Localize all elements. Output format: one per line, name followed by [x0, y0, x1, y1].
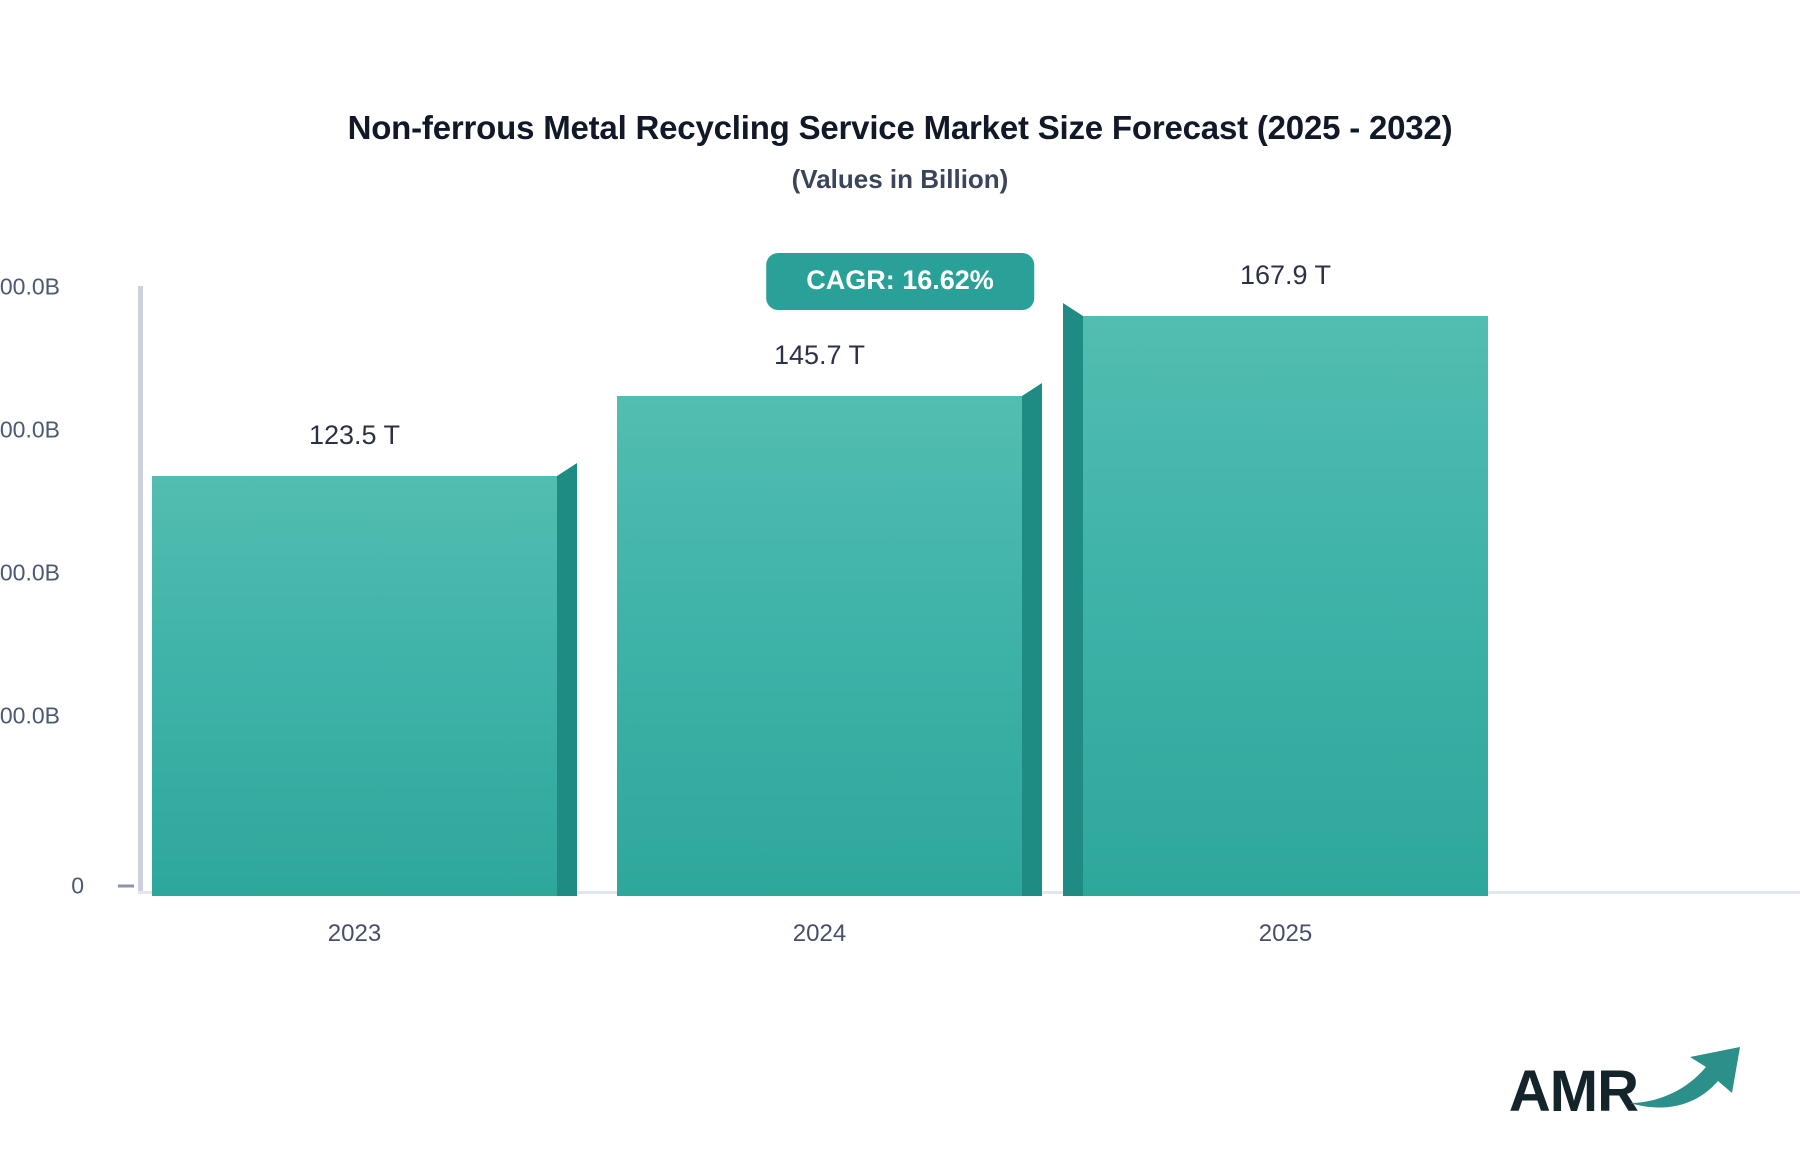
amr-logo-text: AMR: [1509, 1066, 1638, 1118]
bar-2024[interactable]: [617, 396, 1022, 896]
amr-logo: AMR: [1509, 1041, 1748, 1118]
bar-side-shadow-2024: [1022, 396, 1042, 896]
y-tick-dash-0: [118, 885, 134, 888]
x-tick-label-2023: 2023: [152, 920, 557, 948]
y-tick-label-200000: 200000.0B: [0, 274, 60, 301]
bar-side-shadow-2025: [1063, 316, 1083, 896]
bar-2023[interactable]: [152, 476, 557, 896]
x-tick-label-2025: 2025: [1083, 920, 1488, 948]
x-tick-label-2024: 2024: [617, 920, 1022, 948]
y-tick-label-50000: 50000.0B: [0, 703, 60, 730]
bar-value-2025: 167.9 T: [1083, 260, 1488, 291]
y-axis-line: [138, 286, 143, 892]
bar-value-2023: 123.5 T: [152, 420, 557, 451]
bar-group-2024[interactable]: 145.7 T 2024: [617, 396, 1022, 896]
bar-group-2025[interactable]: 167.9 T 2025: [1083, 316, 1488, 896]
bar-group-2023[interactable]: 123.5 T 2023: [152, 476, 557, 896]
y-tick-label-0: 0: [0, 873, 84, 900]
bar-side-shadow-2023: [557, 476, 577, 896]
bar-2025[interactable]: [1083, 316, 1488, 896]
y-tick-label-150000: 150000.0B: [0, 417, 60, 444]
chart-canvas: Non-ferrous Metal Recycling Service Mark…: [0, 0, 1800, 1156]
y-tick-label-100000: 100000.0B: [0, 560, 60, 587]
page-title: Non-ferrous Metal Recycling Service Mark…: [0, 108, 1800, 148]
growth-arrow-icon: [1628, 1041, 1748, 1116]
bar-value-2024: 145.7 T: [617, 340, 1022, 371]
plot-area: 200000.0B 150000.0B 100000.0B 50000.0B 0…: [0, 286, 1800, 896]
chart-subtitle: (Values in Billion): [0, 164, 1800, 195]
title-block: Non-ferrous Metal Recycling Service Mark…: [0, 108, 1800, 195]
